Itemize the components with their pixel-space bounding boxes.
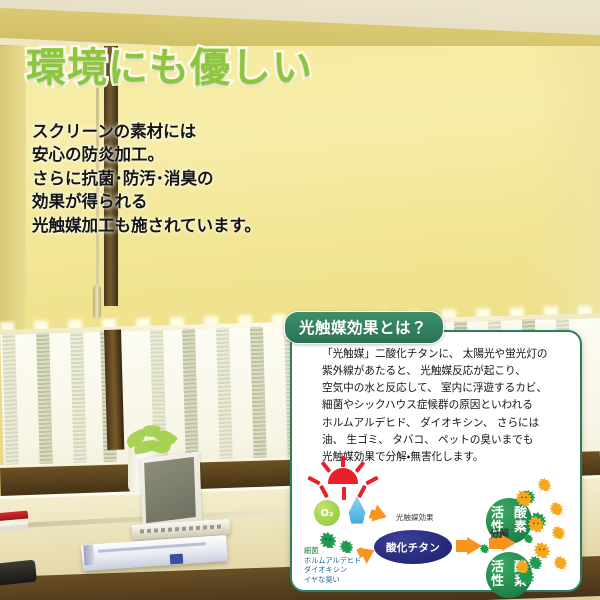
neutralized-germ-icon [538, 478, 551, 491]
decompose-arrow-tail [489, 538, 503, 549]
binder-spine [83, 545, 94, 566]
neutralized-germ-icon [534, 542, 550, 558]
subcopy-line: 安心の防炎加工。 [32, 143, 332, 166]
sun-ray [341, 456, 345, 467]
titanium-dioxide-node: 酸化チタン [374, 530, 452, 564]
neutralized-germ-icon [528, 516, 544, 532]
blind-slat [250, 327, 267, 479]
binder-label [170, 554, 184, 565]
arrow-right-icon [372, 504, 390, 525]
neutralized-germ-icon [554, 556, 567, 569]
wall-left-shadow [0, 46, 26, 346]
blind-slat [70, 332, 87, 484]
subcopy-line: スクリーンの素材には [32, 120, 332, 143]
water-drop-icon [346, 496, 368, 526]
blind-center-post [104, 330, 124, 450]
reaction-label: 光触媒効果 [396, 512, 434, 523]
sun-icon [328, 468, 358, 484]
subcopy-line: さらに抗菌･防汚･消臭の [32, 167, 332, 190]
panel-body-line: 空気中の水と反応して、 室内に浮遊するカビ、 [322, 380, 572, 397]
pull-cord-weight [93, 285, 101, 319]
arrow-right-icon [502, 535, 516, 551]
panel-body-line: 油、 生ゴミ、 タバコ、 ペットの臭いまでも [322, 432, 572, 449]
source-line: ダイオキシン [304, 565, 361, 575]
sun-ray [307, 476, 320, 486]
poster-root: 環境にも優しい スクリーンの素材には 安心の防炎加工。 さらに抗菌･防汚･消臭の… [0, 0, 600, 600]
sun-ray [342, 487, 346, 500]
panel-body-line: 紫外線があたると、 光触媒反応が起こり、 [322, 363, 572, 380]
panel-body-line: ホルムアルデヒド、 ダイオキシン、 さらには [322, 415, 572, 432]
page-headline: 環境にも優しい [26, 48, 313, 88]
source-line: ホルムアルデヒド [304, 556, 361, 566]
photocatalyst-diagram: O₂ 細菌 ホルムアルデヒド ダイオキシン イヤな臭い 酸化チタ [300, 468, 572, 580]
sun-ray [319, 485, 329, 498]
neutralized-germ-icon [550, 502, 563, 515]
laptop-display [144, 457, 196, 523]
neutralized-germ-icon [552, 526, 565, 539]
germ-icon [480, 544, 489, 553]
o2-icon: O₂ [314, 500, 340, 526]
sun-ray [365, 476, 378, 486]
sun-ray [357, 485, 367, 498]
blind-slat [216, 328, 233, 480]
pollutant-source-labels: 細菌 ホルムアルデヒド ダイオキシン イヤな臭い [304, 546, 361, 584]
panel-body-line: 細菌やシックハウス症候群の原因といわれる [322, 397, 572, 414]
neutralized-germ-icon [516, 490, 532, 506]
panel-body-text: 「光触媒」二酸化チタンに、 太陽光や蛍光灯の 紫外線があたると、 光触媒反応が起… [322, 346, 572, 466]
neutralized-germ-icon [516, 560, 529, 573]
source-line: 細菌 [304, 546, 361, 556]
panel-body-line: 「光触媒」二酸化チタンに、 太陽光や蛍光灯の [322, 346, 572, 363]
panel-tab-title: 光触媒効果とは？ [284, 311, 444, 344]
source-line: イヤな臭い [304, 575, 361, 585]
blind-slat [36, 333, 53, 485]
subcopy-line: 効果が得られる [32, 190, 332, 213]
subcopy-block: スクリーンの素材には 安心の防炎加工。 さらに抗菌･防汚･消臭の 効果が得られる… [32, 120, 332, 237]
subcopy-line: 光触媒加工も施されています。 [32, 214, 332, 237]
photocatalyst-info-panel: 「光触媒」二酸化チタンに、 太陽光や蛍光灯の 紫外線があたると、 光触媒反応が起… [290, 330, 582, 592]
blind-slat [2, 334, 19, 486]
germ-icon [524, 534, 533, 543]
wall-right-light [530, 46, 600, 346]
